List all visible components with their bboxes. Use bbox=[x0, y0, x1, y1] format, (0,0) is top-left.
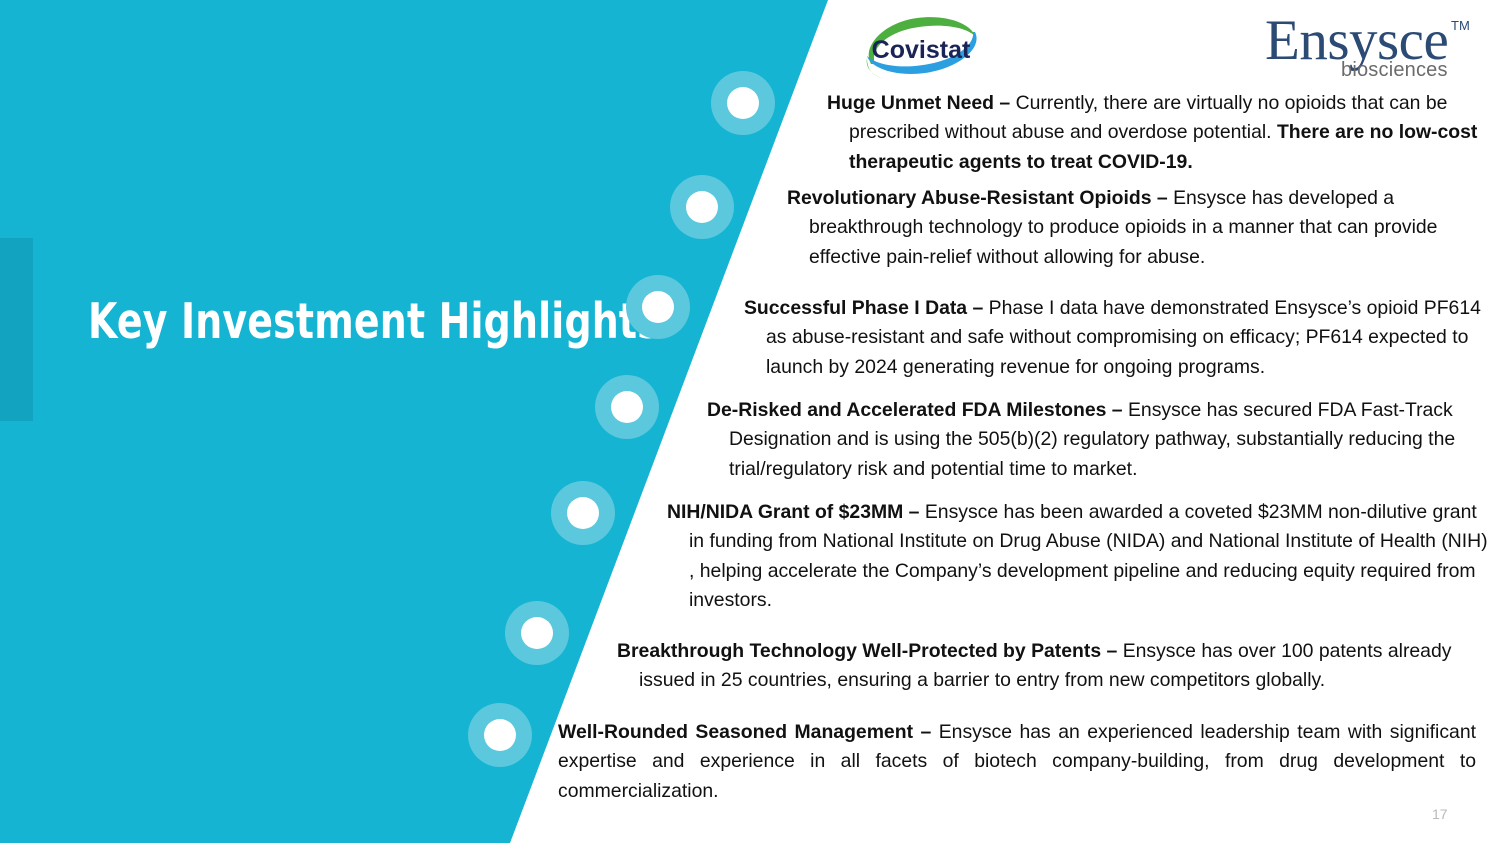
bullet-item-revolutionary-opioids: Revolutionary Abuse-Resistant Opioids – … bbox=[787, 184, 1497, 272]
bullet-heading: Huge Unmet Need – bbox=[827, 92, 1016, 114]
left-accent-bar bbox=[0, 238, 33, 421]
bullet-marker-core bbox=[686, 191, 718, 223]
bullet-heading: Breakthrough Technology Well-Protected b… bbox=[617, 640, 1123, 662]
bullet-marker-core bbox=[521, 617, 553, 649]
bullet-heading: Revolutionary Abuse-Resistant Opioids – bbox=[787, 187, 1173, 209]
bullet-marker-7 bbox=[468, 703, 532, 767]
bullet-marker-core bbox=[727, 87, 759, 119]
bullet-marker-6 bbox=[505, 601, 569, 665]
covistat-logo-icon: Covistat bbox=[855, 6, 987, 86]
bullet-item-nih-nida-grant: NIH/NIDA Grant of $23MM – Ensysce has be… bbox=[667, 498, 1497, 616]
bullet-heading: Successful Phase I Data – bbox=[744, 297, 989, 319]
bullet-marker-core bbox=[567, 497, 599, 529]
bullet-marker-5 bbox=[551, 481, 615, 545]
page-number: 17 bbox=[1432, 806, 1448, 822]
svg-text:Covistat: Covistat bbox=[872, 36, 971, 64]
bullet-heading: Well-Rounded Seasoned Management – bbox=[558, 721, 939, 743]
bullet-item-fda-milestones: De-Risked and Accelerated FDA Milestones… bbox=[707, 396, 1497, 484]
page-title: Key Investment Highlights bbox=[88, 296, 535, 347]
trademark-symbol: TM bbox=[1451, 18, 1470, 33]
bullet-marker-1 bbox=[711, 71, 775, 135]
bullet-marker-2 bbox=[670, 175, 734, 239]
bullet-item-management-team: Well-Rounded Seasoned Management – Ensys… bbox=[558, 718, 1476, 806]
bullet-item-phase-i-data: Successful Phase I Data – Phase I data h… bbox=[744, 294, 1496, 382]
bullet-heading: NIH/NIDA Grant of $23MM – bbox=[667, 501, 925, 523]
bullet-marker-3 bbox=[626, 275, 690, 339]
covistat-logo: Covistat bbox=[855, 6, 987, 86]
bullet-item-patents: Breakthrough Technology Well-Protected b… bbox=[617, 637, 1497, 696]
slide-root: Key Investment Highlights Huge Unmet Nee… bbox=[0, 0, 1500, 843]
ensysce-logo: Ensysce TM biosciences bbox=[1265, 12, 1475, 84]
bullet-marker-core bbox=[642, 291, 674, 323]
bullet-marker-core bbox=[484, 719, 516, 751]
bullet-marker-4 bbox=[595, 375, 659, 439]
bullet-item-huge-unmet-need: Huge Unmet Need – Currently, there are v… bbox=[827, 89, 1497, 177]
bullet-marker-core bbox=[611, 391, 643, 423]
bullet-heading: De-Risked and Accelerated FDA Milestones… bbox=[707, 399, 1128, 421]
ensysce-tagline: biosciences bbox=[1341, 59, 1448, 82]
